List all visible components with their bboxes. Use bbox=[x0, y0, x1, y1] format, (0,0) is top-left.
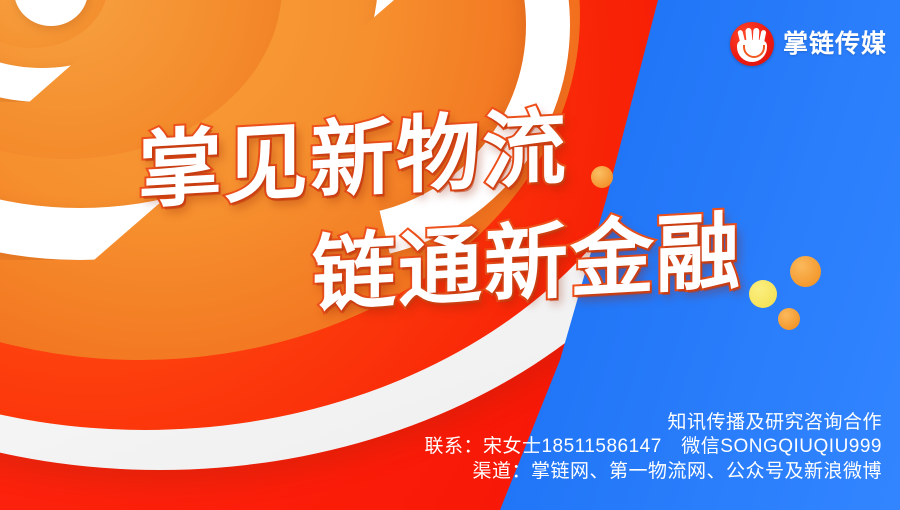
contact-line-channels: 渠道：掌链网、第一物流网、公众号及新浪微博 bbox=[424, 460, 882, 484]
promotional-banner: 掌链传媒 掌见新物流 链通新金融 知讯传播及研究咨询合作 联系：宋女士18511… bbox=[0, 0, 900, 510]
orange-dot-2 bbox=[790, 256, 821, 287]
brand-logo: 掌链传媒 bbox=[730, 22, 887, 66]
hand-palm-logo-icon bbox=[730, 22, 774, 66]
orange-dot-3 bbox=[778, 308, 800, 330]
contact-line-service: 知讯传播及研究咨询合作 bbox=[424, 411, 882, 435]
contact-line-phone: 联系：宋女士18511586147 微信SONGQIUQIU999 bbox=[424, 435, 882, 459]
brand-name-text: 掌链传媒 bbox=[783, 32, 887, 57]
orange-dot-1 bbox=[591, 166, 613, 188]
yellow-dot bbox=[749, 280, 777, 308]
contact-block: 知讯传播及研究咨询合作 联系：宋女士18511586147 微信SONGQIUQ… bbox=[424, 411, 882, 484]
